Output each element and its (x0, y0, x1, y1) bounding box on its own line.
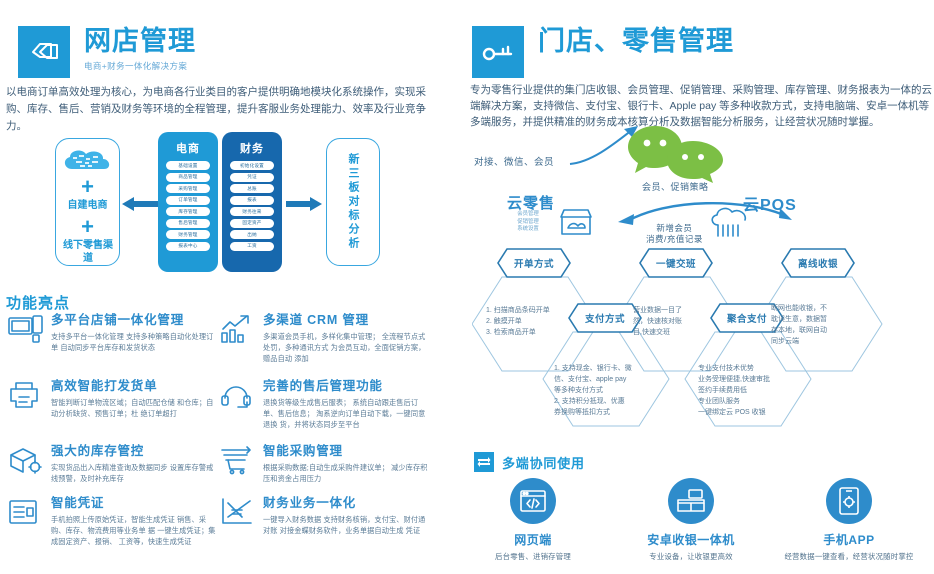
multi-device-heading: 多端协同使用 (474, 452, 585, 472)
ecommerce-module-pill: 报表中心 (166, 242, 210, 251)
finance-chart-icon (220, 497, 256, 531)
plus-1: + (56, 176, 119, 198)
feature-title: 完善的售后管理功能 (263, 378, 428, 394)
wechat-bubbles-icon (627, 125, 727, 183)
feature-item: 强大的库存管控 实现货品出入库精准查询及数据同步 设置库存警戒线预警，及时补充库… (8, 443, 216, 484)
device-item-app: 手机APP 经营数据一键查看，经营状况随时掌控 (774, 478, 924, 562)
finance-module-pill: 报表 (230, 196, 274, 205)
node-body: 专业支付技术优势 业务受理便捷,快速审批 签约手续费用低 专业团队服务 一键绑定… (698, 363, 806, 418)
pos-terminal-icon (668, 478, 714, 524)
shopping-cart-icon (220, 445, 256, 479)
arrow-right-icon (286, 196, 322, 212)
ecommerce-module-pill: 采购管理 (166, 184, 210, 193)
box-gear-icon (8, 445, 44, 479)
node-body: 1. 扫描商品条码开单 2. 触摸开单 3. 检索商品开单 (486, 305, 582, 338)
plus-2: + (56, 216, 119, 238)
intro-text-left: 以电商订单高效处理为核心，为电商各行业类目的客户提供明确地模块化系统操作，实现采… (6, 84, 446, 135)
feature-title: 强大的库存管控 (51, 443, 216, 459)
node-hex: 开单方式 (497, 248, 571, 278)
hexagon-network (472, 262, 932, 452)
node-body-text: 1. 支持现金、银行卡、微 信、支付宝、apple pay 等多种支付方式 2.… (554, 363, 654, 418)
feature-title: 高效智能打发货单 (51, 378, 216, 394)
printer-icon (8, 380, 44, 414)
ecommerce-module-list: 基础设置商品管理采购管理订单管理库存管理售后管理财务管理报表中心 (158, 156, 218, 257)
node-body-text: 断网也能收银，不 耽误生意，数据暂 存本地，联网自动 同步云端 (771, 303, 863, 347)
panel-store-retail: 门店、零售管理 专为零售行业提供的集门店收银、会员管理、促销管理、采购管理、库存… (466, 0, 934, 574)
page-title-left: 网店管理 (84, 26, 196, 56)
cloud-retail-title: 云零售 (507, 192, 555, 213)
finance-title: 财务 (222, 132, 282, 156)
arrow-left-icon (122, 196, 158, 212)
feature-desc: 实现货品出入库精准查询及数据同步 设置库存警戒线预警，及时补充库存 (51, 462, 216, 484)
connect-label: 对接、微信、会员 (474, 154, 554, 168)
ecommerce-module-pill: 基础设置 (166, 161, 210, 170)
left-header: 网店管理 电商+财务一体化解决方案 (18, 26, 196, 78)
node-label: 一键交班 (639, 248, 713, 278)
finance-module-pill: 凭证 (230, 173, 274, 182)
feature-item: 完善的售后管理功能 退换货等级生成售后服表； 系统自动跟走售后订单、售后信息； … (220, 378, 428, 430)
finance-module-pill: 总账 (230, 184, 274, 193)
ecommerce-title: 电商 (158, 132, 218, 156)
flow-source-label-2: 线下零售渠道 (62, 239, 114, 265)
feature-title: 多渠道 CRM 管理 (263, 312, 428, 328)
feature-item: 财务业务一体化 一键导入财务数据 支持财务核销，支付宝、财付通对账 对接金蝶财务… (220, 495, 428, 536)
right-header: 门店、零售管理 (472, 26, 734, 78)
infographic-page: 网店管理 电商+财务一体化解决方案 以电商订单高效处理为核心，为电商各行业类目的… (0, 0, 934, 574)
document-list-icon (8, 497, 44, 531)
ecommerce-module-pill: 售后管理 (166, 219, 210, 228)
flow-target-label: 新三板对标分析 (343, 153, 363, 251)
feature-title: 智能采购管理 (263, 443, 428, 459)
node-label: 开单方式 (497, 248, 571, 278)
device-item-web: 网页端 后台零售、进销存管理 (458, 478, 608, 562)
device-desc: 后台零售、进销存管理 (458, 551, 608, 562)
ecommerce-module-pill: 订单管理 (166, 196, 210, 205)
node-hex: 一键交班 (639, 248, 713, 278)
device-name: 网页端 (458, 531, 608, 548)
feature-desc: 多渠道会员手机，多样化集中管理； 全流程节点式处罚，多种通讯方式 为会员互动，全… (263, 331, 428, 364)
device-desc: 经营数据一键查看，经营状况随时掌控 (774, 551, 924, 562)
key-icon (472, 26, 524, 78)
device-desc: 专业设备，让收银更高效 (616, 551, 766, 562)
ecommerce-module-pill: 库存管理 (166, 207, 210, 216)
chart-growth-icon (220, 314, 256, 348)
feature-item: 多渠道 CRM 管理 多渠道会员手机，多样化集中管理； 全流程节点式处罚，多种通… (220, 312, 428, 364)
headset-support-icon (220, 380, 256, 414)
flow-target-box: 新三板对标分析 (326, 138, 380, 266)
page-subtitle-left: 电商+财务一体化解决方案 (84, 60, 196, 72)
node-body-text: 1. 扫描商品条码开单 2. 触摸开单 3. 检索商品开单 (486, 305, 582, 338)
flow-diagram: + 自建电商 + 线下零售渠道 电商 基础设置商品管理采购管理订单管理库存管理售… (0, 130, 460, 280)
feature-item: 多平台店铺一体化管理 支持多平台一体化管理 支持多种策略自动化处理订单 自动同步… (8, 312, 216, 353)
node-body: 营业数据一目了 然，快速核对账 目,快速交班 (633, 305, 719, 338)
device-name: 安卓收银一体机 (616, 531, 766, 548)
panel-online-store: 网店管理 电商+财务一体化解决方案 以电商订单高效处理为核心，为电商各行业类目的… (0, 0, 460, 574)
node-hex: 离线收银 (781, 248, 855, 278)
flow-ecommerce-box: 电商 基础设置商品管理采购管理订单管理库存管理售后管理财务管理报表中心 (158, 132, 218, 272)
node-label: 离线收银 (781, 248, 855, 278)
ecommerce-module-pill: 财务管理 (166, 230, 210, 239)
device-item-pos: 安卓收银一体机 专业设备，让收银更高效 (616, 478, 766, 562)
browser-code-icon (510, 478, 556, 524)
feature-desc: 智能判断订单物流区域；自动匹配仓储 和仓库；自动分析缺货、预售订单；杜 绝订单超… (51, 397, 216, 419)
finance-module-pill: 固定资产 (230, 219, 274, 228)
features-heading: 功能亮点 (6, 292, 70, 313)
finance-module-list: 初始化设置凭证总账报表财务往来固定资产出纳工资 (222, 156, 282, 257)
feature-item: 智能凭证 手机拍照上传原始凭证，智能生成凭证 销售、采购、库存、物流费用等业务单… (8, 495, 216, 547)
cloud-icon (56, 139, 119, 173)
feature-desc: 支持多平台一体化管理 支持多种策略自动化处理订单 自动同步平台库存和发货状态 (51, 331, 216, 353)
flow-finance-box: 财务 初始化设置凭证总账报表财务往来固定资产出纳工资 (222, 132, 282, 272)
cloud-barcode-icon (708, 205, 752, 239)
feature-title: 智能凭证 (51, 495, 216, 511)
finance-module-pill: 工资 (230, 242, 274, 251)
node-body-text: 营业数据一目了 然，快速核对账 目,快速交班 (633, 305, 719, 338)
page-title-right: 门店、零售管理 (538, 26, 734, 56)
finance-module-pill: 出纳 (230, 230, 274, 239)
multi-device-icon (8, 314, 44, 348)
multi-device-title: 多端协同使用 (502, 453, 585, 472)
feature-title: 多平台店铺一体化管理 (51, 312, 216, 328)
feature-desc: 一键导入财务数据 支持财务核销，支付宝、财付通对账 对接金蝶财务软件，业务单据自… (263, 514, 428, 536)
ecommerce-module-pill: 商品管理 (166, 173, 210, 182)
intro-text-right: 专为零售行业提供的集门店收银、会员管理、促销管理、采购管理、库存管理、财务报表为… (470, 82, 932, 130)
feature-title: 财务业务一体化 (263, 495, 428, 511)
sync-arrows-icon (474, 452, 494, 472)
feature-desc: 手机拍照上传原始凭证，智能生成凭证 销售、采购、库存、物流费用等业务单 据 一键… (51, 514, 216, 547)
feature-desc: 退换货等级生成售后服表； 系统自动跟走售后订单、售后信息； 淘系逆向订单自动下载… (263, 397, 428, 430)
shop-cloud-icon (556, 206, 596, 238)
flow-source-box: + 自建电商 + 线下零售渠道 (55, 138, 120, 266)
node-body-text: 专业支付技术优势 业务受理便捷,快速审批 签约手续费用低 专业团队服务 一键绑定… (698, 363, 806, 418)
finance-module-pill: 初始化设置 (230, 161, 274, 170)
flow-source-label-1: 自建电商 (56, 199, 119, 212)
node-body: 断网也能收银，不 耽误生意，数据暂 存本地，联网自动 同步云端 (771, 303, 863, 347)
device-name: 手机APP (774, 531, 924, 548)
feature-item: 智能采购管理 根据采购数据;自动生成采购件建议单； 减少库存积压和资金占用压力 (220, 443, 428, 484)
finance-module-pill: 财务往来 (230, 207, 274, 216)
cloud-retail-sub: 会员管理 促销管理 系统设置 (502, 211, 554, 234)
feature-item: 高效智能打发货单 智能判断订单物流区域；自动匹配仓储 和仓库；自动分析缺货、预售… (8, 378, 216, 419)
node-body: 1. 支持现金、银行卡、微 信、支付宝、apple pay 等多种支付方式 2.… (554, 363, 654, 418)
tag-link-icon (18, 26, 70, 78)
feature-desc: 根据采购数据;自动生成采购件建议单； 减少库存积压和资金占用压力 (263, 462, 428, 484)
mobile-app-icon (826, 478, 872, 524)
